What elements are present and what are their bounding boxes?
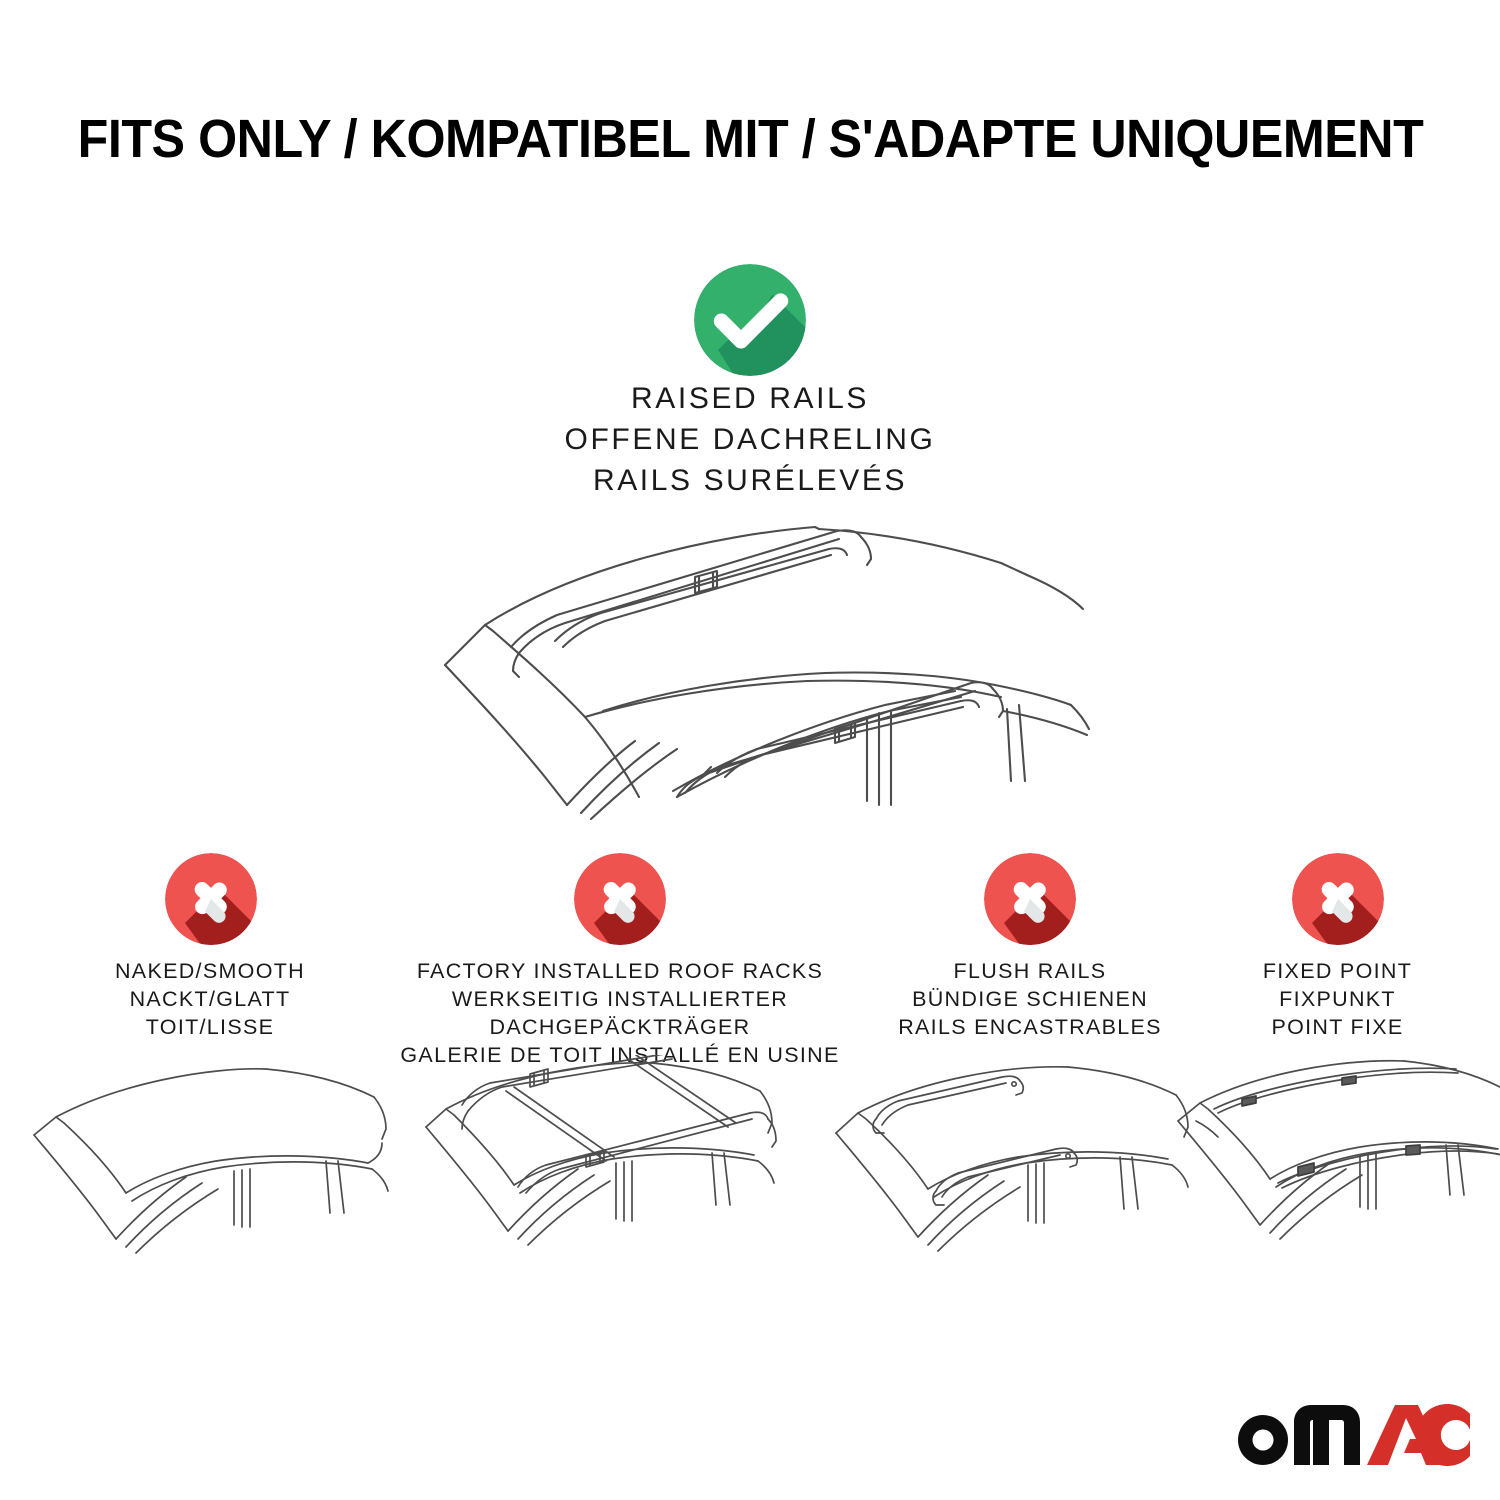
car-roof-with-flush-rails-illustration	[830, 1055, 1220, 1295]
caption-line-en: RAISED RAILS	[450, 378, 1050, 419]
logo-letter-m	[1294, 1405, 1360, 1465]
page-header: FITS ONLY / KOMPATIBEL MIT / S'ADAPTE UN…	[0, 108, 1500, 170]
caption-line-en: NAKED/SMOOTH	[0, 957, 420, 985]
caption-line-de-1: WERKSEITIG INSTALLIERTER	[390, 985, 850, 1013]
car-roof-with-raised-rails-illustration	[415, 505, 1095, 845]
caption-line-de: OFFENE DACHRELING	[450, 419, 1050, 460]
incompatible-caption: NAKED/SMOOTH NACKT/GLATT TOIT/LISSE	[0, 957, 420, 1041]
logo-letter-o	[1238, 1415, 1288, 1465]
check-circle-icon	[694, 264, 806, 376]
caption-line-de: BÜNDIGE SCHIENEN	[830, 985, 1230, 1013]
incompatible-caption: FACTORY INSTALLED ROOF RACKS WERKSEITIG …	[390, 957, 850, 1069]
caption-line-fr: RAILS SURÉLEVÉS	[450, 460, 1050, 501]
incompatible-caption: FLUSH RAILS BÜNDIGE SCHIENEN RAILS ENCAS…	[830, 957, 1230, 1041]
x-circle-icon	[165, 853, 257, 945]
caption-line-de-2: DACHGEPÄCKTRÄGER	[390, 1013, 850, 1041]
car-roof-with-fixed-points-illustration	[1170, 1055, 1500, 1295]
caption-line-fr: POINT FIXE	[1175, 1013, 1500, 1041]
x-circle-icon	[574, 853, 666, 945]
omac-logo	[1232, 1404, 1470, 1466]
caption-line-de: FIXPUNKT	[1175, 985, 1500, 1013]
x-circle-icon	[1292, 853, 1384, 945]
caption-line-en: FLUSH RAILS	[830, 957, 1230, 985]
caption-line-fr: TOIT/LISSE	[0, 1013, 420, 1041]
compatible-caption: RAISED RAILS OFFENE DACHRELING RAILS SUR…	[450, 378, 1050, 501]
caption-line-en: FACTORY INSTALLED ROOF RACKS	[390, 957, 850, 985]
x-circle-icon	[984, 853, 1076, 945]
incompatible-caption: FIXED POINT FIXPUNKT POINT FIXE	[1175, 957, 1500, 1041]
page-title: FITS ONLY / KOMPATIBEL MIT / S'ADAPTE UN…	[77, 108, 1423, 170]
car-roof-with-factory-crossbars-illustration	[410, 1055, 810, 1295]
caption-line-de: NACKT/GLATT	[0, 985, 420, 1013]
caption-line-fr: RAILS ENCASTRABLES	[830, 1013, 1230, 1041]
caption-line-en: FIXED POINT	[1175, 957, 1500, 985]
car-roof-bare-smooth-illustration	[30, 1055, 390, 1295]
